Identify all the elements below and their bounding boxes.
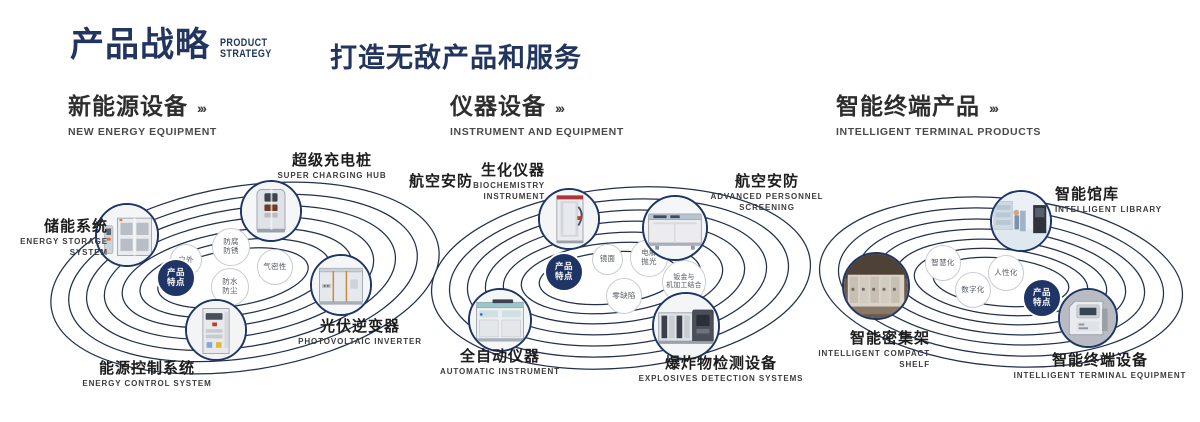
section-heading-instrument: 仪器设备 ››› INSTRUMENT AND EQUIPMENT [450,96,624,138]
section-title-text: 新能源设备 [68,96,188,119]
poster-title-en: PRODUCT STRATEGY [220,38,272,60]
node-label-en: ENERGY STORAGE SYSTEM [8,237,108,258]
feature-bubble-mirror: 镜面 [592,244,623,275]
section-heading-new-energy: 新能源设备 ››› NEW ENERGY EQUIPMENT [68,96,217,138]
poster-canvas: 产品战略 PRODUCT STRATEGY 打造无敌产品和服务 新能源设备 ››… [0,0,1200,422]
section-title-cn: 新能源设备 ››› [68,96,217,119]
feature-bubble-airtight: 气密性 [257,249,293,285]
product-circle-super-charging-hub[interactable] [240,180,302,242]
node-label-en: INTELLIGENT LIBRARY [1055,205,1195,215]
node-label-cn: 生化仪器 [430,162,545,179]
feature-bubble-label: 智慧化 [931,259,954,268]
section-title-en: INSTRUMENT AND EQUIPMENT [450,126,624,138]
core-bubble-line2: 特点 [167,278,185,288]
core-bubble-line1: 产品 [555,262,573,272]
biochemistry-instrument-image [540,190,598,248]
feature-bubble-label: 气密性 [263,263,286,272]
feature-bubble-label-line2: 抛光 [641,258,657,267]
core-bubble-line1: 产品 [1033,288,1051,298]
node-label-intelligent-library: 智能馆库 INTELLIGENT LIBRARY [1055,186,1195,216]
node-label-en: BIOCHEMISTRY INSTRUMENT [430,181,545,202]
node-label-en: PHOTOVOLTAIC INVERTER [280,337,440,347]
core-bubble-line2: 特点 [555,272,573,282]
node-label-cn: 光伏逆变器 [280,318,440,335]
chevron-right-icon: ››› [989,101,997,115]
node-label-cn: 智能终端设备 [1000,352,1200,369]
section-title-en: NEW ENERGY EQUIPMENT [68,126,217,138]
node-label-energy-storage: 储能系统 ENERGY STORAGE SYSTEM [8,218,108,258]
product-circle-energy-control-system[interactable] [185,299,247,361]
poster-title-en-line2: STRATEGY [220,49,272,60]
node-label-en: INTELLIGENT COMPACT SHELF [790,349,930,370]
core-bubble-product-features: 产品 特点 [156,258,196,298]
node-label-cn: 全自动仪器 [420,348,580,365]
feature-bubble-zero-defect: 零缺陷 [606,278,642,314]
chevron-right-icon: ››› [197,101,205,115]
node-label-intelligent-compact-shelf: 智能密集架 INTELLIGENT COMPACT SHELF [790,330,930,370]
node-label-en: SUPER CHARGING HUB [252,171,412,181]
node-label-super-charging-hub: 超级充电桩 SUPER CHARGING HUB [252,152,412,182]
section-title-text: 仪器设备 [450,96,546,119]
feature-bubble-label: 人性化 [994,269,1017,278]
section-title-cn: 智能终端产品 ››› [836,96,1041,119]
node-label-en: ADVANCED PERSONNEL SCREENING [702,192,832,213]
product-circle-explosives-detection[interactable] [652,292,720,360]
product-circle-advanced-personnel-screening[interactable] [642,195,708,261]
intelligent-library-image [992,192,1050,250]
intelligent-terminal-equipment-image [1060,290,1116,346]
section-title-cn: 仪器设备 ››› [450,96,624,119]
node-label-biochemistry-instrument: 生化仪器 BIOCHEMISTRY INSTRUMENT [430,162,545,202]
node-label-cn: 智能馆库 [1055,186,1195,203]
poster-header: 产品战略 PRODUCT STRATEGY [70,28,283,62]
feature-bubble-label: 数字化 [961,286,984,295]
super-charging-hub-image [242,182,300,240]
node-label-en: ENERGY CONTROL SYSTEM [52,379,242,389]
photovoltaic-inverter-image [312,256,370,314]
advanced-personnel-screening-image [644,197,706,259]
node-label-advanced-personnel-screening: 航空安防 ADVANCED PERSONNEL SCREENING [702,173,832,213]
product-circle-photovoltaic-inverter[interactable] [310,254,372,316]
node-label-en: AUTOMATIC INSTRUMENT [420,367,580,377]
node-label-cn: 智能密集架 [790,330,930,347]
feature-bubble-label-line2: 机加工结合 [666,282,701,290]
core-bubble-line1: 产品 [167,268,185,278]
poster-subtitle: 打造无敌产品和服务 [330,36,582,75]
section-title-en: INTELLIGENT TERMINAL PRODUCTS [836,126,1041,138]
intelligent-compact-shelf-image [844,254,908,318]
feature-bubble-humanized: 人性化 [988,255,1024,291]
feature-bubble-smart: 智慧化 [925,245,961,281]
section-heading-intelligent-terminal: 智能终端产品 ››› INTELLIGENT TERMINAL PRODUCTS [836,96,1041,138]
node-label-en: EXPLOSIVES DETECTION SYSTEMS [606,374,836,384]
core-bubble-line2: 特点 [1033,298,1051,308]
section-title-text: 智能终端产品 [836,96,980,119]
energy-control-system-image [187,301,245,359]
feature-bubble-label-line2: 防尘 [222,287,238,296]
automatic-instrument-image [470,290,530,350]
feature-bubble-label: 零缺陷 [612,292,635,301]
product-circle-biochemistry-instrument[interactable] [538,188,600,250]
chevron-right-icon: ››› [555,101,563,115]
product-circle-intelligent-library[interactable] [990,190,1052,252]
node-label-cn: 航空安防 [702,173,832,190]
product-circle-intelligent-compact-shelf[interactable] [842,252,910,320]
core-bubble-product-features: 产品 特点 [544,252,584,292]
node-label-cn: 超级充电桩 [252,152,412,169]
node-label-automatic-instrument: 全自动仪器 AUTOMATIC INSTRUMENT [420,348,580,378]
feature-bubble-digital: 数字化 [955,272,991,308]
node-label-intelligent-terminal-equipment: 智能终端设备 INTELLIGENT TERMINAL EQUIPMENT [1000,352,1200,382]
core-bubble-product-features: 产品 特点 [1022,278,1062,318]
explosives-detection-image [654,294,718,358]
node-label-cn: 储能系统 [8,218,108,235]
feature-bubble-label: 镜面 [600,255,616,264]
product-circle-intelligent-terminal-equipment[interactable] [1058,288,1118,348]
poster-title-cn: 产品战略 [70,28,210,62]
node-label-energy-control-system: 能源控制系统 ENERGY CONTROL SYSTEM [52,360,242,390]
product-circle-automatic-instrument[interactable] [468,288,532,352]
node-label-photovoltaic-inverter: 光伏逆变器 PHOTOVOLTAIC INVERTER [280,318,440,348]
feature-bubble-label-line2: 防锈 [223,247,239,256]
node-label-cn: 能源控制系统 [52,360,242,377]
node-label-en: INTELLIGENT TERMINAL EQUIPMENT [1000,371,1200,381]
